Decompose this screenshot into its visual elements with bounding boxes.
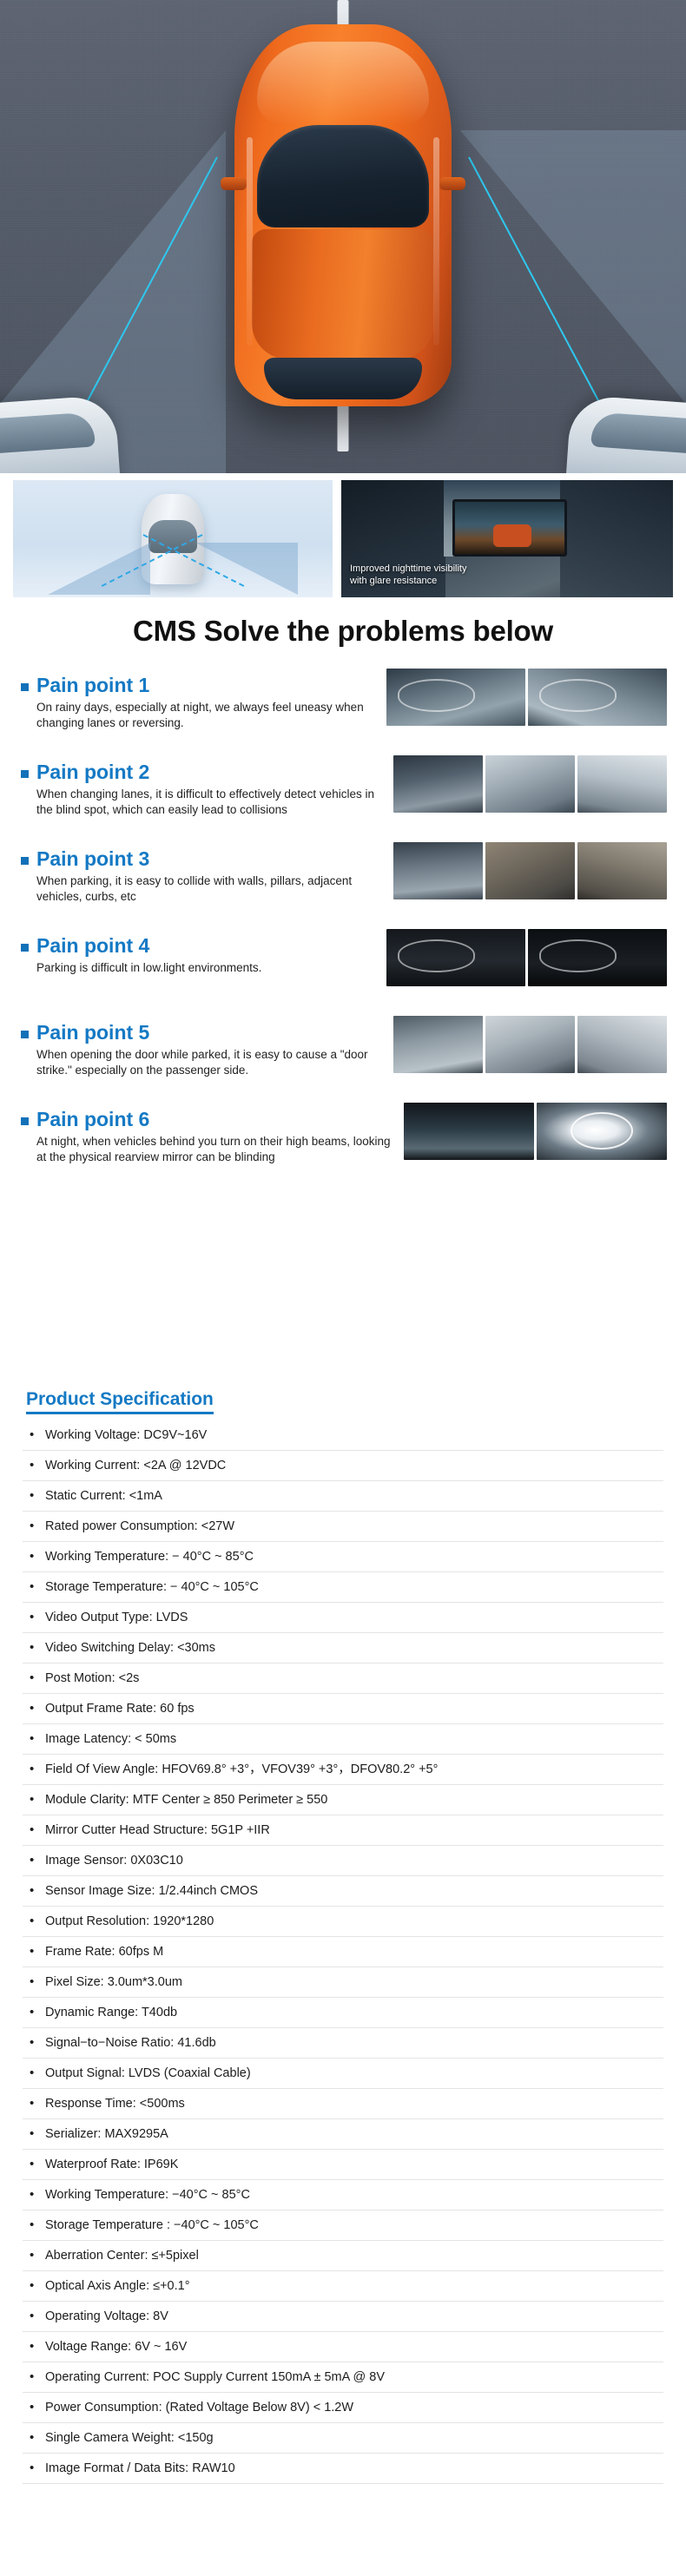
pain-point-thumbnails — [404, 1103, 667, 1160]
headlight-glare-overlay — [571, 1112, 633, 1150]
pain-point-title: Pain point 2 — [36, 761, 149, 784]
specification-list: Working Voltage: DC9V~16VWorking Current… — [23, 1426, 663, 2484]
thumbnail-image — [485, 1016, 575, 1073]
pain-point-description: When opening the door while parked, it i… — [36, 1047, 392, 1077]
specification-item: Output Signal: LVDS (Coaxial Cable) — [23, 2065, 663, 2089]
pain-point-row: Pain point 3 When parking, it is easy to… — [0, 842, 686, 915]
secondary-image-row: Improved nighttime visibilitywith glare … — [13, 480, 673, 597]
pain-point-heading: Pain point 5 — [21, 1021, 393, 1044]
pain-point-description: When parking, it is easy to collide with… — [36, 873, 392, 904]
specification-item: Working Voltage: DC9V~16V — [23, 1426, 663, 1451]
car-windshield — [257, 125, 429, 227]
cabin-pillar-right — [560, 480, 673, 597]
car-hood — [257, 42, 429, 125]
specification-item: Video Output Type: LVDS — [23, 1609, 663, 1633]
pain-point-thumbnails — [386, 929, 667, 986]
pain-point-description: Parking is difficult in low.light enviro… — [36, 960, 386, 976]
pain-point-text-block: Pain point 4 Parking is difficult in low… — [21, 929, 386, 976]
section-title: Product Specification — [26, 1389, 214, 1414]
pain-point-row: Pain point 1 On rainy days, especially a… — [0, 669, 686, 741]
square-bullet-icon — [21, 1117, 29, 1125]
pain-point-heading: Pain point 4 — [21, 934, 386, 958]
thumbnail-image — [577, 1016, 667, 1073]
square-bullet-icon — [21, 683, 29, 691]
pain-point-row: Pain point 5 When opening the door while… — [0, 1016, 686, 1089]
specification-item: Output Resolution: 1920*1280 — [23, 1913, 663, 1937]
specification-item: Storage Temperature : −40°C ~ 105°C — [23, 2217, 663, 2241]
specification-item: Field Of View Angle: HFOV69.8° +3°，VFOV3… — [23, 1761, 663, 1785]
specification-item: Image Latency: < 50ms — [23, 1730, 663, 1755]
thumbnail-image — [528, 669, 667, 726]
square-bullet-icon — [21, 1031, 29, 1038]
fov-diagram-image — [13, 480, 333, 597]
mirror-outline-overlay — [539, 939, 617, 972]
specification-item: Working Temperature: −40°C ~ 85°C — [23, 2186, 663, 2210]
specification-item: Signal−to−Noise Ratio: 41.6db — [23, 2034, 663, 2059]
specification-item: Storage Temperature: − 40°C ~ 105°C — [23, 1578, 663, 1603]
parked-car-glass — [590, 412, 686, 455]
monitor-feed-car — [493, 524, 531, 547]
pain-point-thumbnails — [393, 755, 667, 813]
pain-point-text-block: Pain point 5 When opening the door while… — [21, 1016, 393, 1077]
specification-item: Frame Rate: 60fps M — [23, 1943, 663, 1967]
thumbnail-image — [393, 755, 483, 813]
car-side-mirror-right — [439, 177, 465, 190]
specification-item: Post Motion: <2s — [23, 1670, 663, 1694]
pain-point-title: Pain point 3 — [36, 847, 149, 871]
pain-point-description: On rainy days, especially at night, we a… — [36, 700, 386, 730]
night-cabin-monitor-image: Improved nighttime visibilitywith glare … — [341, 480, 673, 597]
pain-point-text-block: Pain point 1 On rainy days, especially a… — [21, 669, 386, 730]
car-highlight-left — [247, 137, 253, 346]
thumbnail-image — [485, 842, 575, 899]
pain-point-heading: Pain point 6 — [21, 1108, 403, 1131]
specification-item: Dynamic Range: T40db — [23, 2004, 663, 2028]
specification-item: Video Switching Delay: <30ms — [23, 1639, 663, 1664]
thumbnail-image — [404, 1103, 534, 1160]
specification-item: Image Format / Data Bits: RAW10 — [23, 2460, 663, 2484]
thumbnail-image — [537, 1103, 667, 1160]
pain-point-text-block: Pain point 3 When parking, it is easy to… — [21, 842, 393, 904]
pain-point-title: Pain point 6 — [36, 1108, 149, 1131]
specification-item: Response Time: <500ms — [23, 2095, 663, 2119]
car-side-mirror-left — [221, 177, 247, 190]
specification-item: Serializer: MAX9295A — [23, 2125, 663, 2150]
square-bullet-icon — [21, 857, 29, 865]
specification-item: Operating Voltage: 8V — [23, 2308, 663, 2332]
thumbnail-image — [485, 755, 575, 813]
pain-point-thumbnails — [393, 842, 667, 899]
specification-item: Static Current: <1mA — [23, 1487, 663, 1512]
pain-point-thumbnails — [386, 669, 667, 726]
car-rear-window — [264, 358, 422, 399]
pain-point-description: When changing lanes, it is difficult to … — [36, 787, 392, 817]
pain-points-list: Pain point 1 On rainy days, especially a… — [0, 669, 686, 1189]
mirror-outline-overlay — [398, 939, 476, 972]
specification-item: Image Sensor: 0X03C10 — [23, 1852, 663, 1876]
pain-point-title: Pain point 1 — [36, 674, 149, 697]
specification-item: Voltage Range: 6V ~ 16V — [23, 2338, 663, 2362]
parked-car-glass — [0, 412, 96, 455]
specification-item: Sensor Image Size: 1/2.44inch CMOS — [23, 1882, 663, 1907]
thumbnail-image — [393, 1016, 483, 1073]
page-title: CMS Solve the problems below — [0, 615, 686, 648]
cms-monitor — [452, 499, 567, 557]
product-specification-section: Product Specification Working Voltage: D… — [0, 1389, 686, 2490]
thumbnail-image — [386, 669, 525, 726]
specification-item: Working Current: <2A @ 12VDC — [23, 1457, 663, 1481]
mirror-outline-overlay — [398, 679, 476, 712]
thumbnail-image — [393, 842, 483, 899]
image-caption: Improved nighttime visibilitywith glare … — [350, 563, 467, 587]
product-landing-page: Improved nighttime visibilitywith glare … — [0, 0, 686, 2576]
specification-item: Mirror Cutter Head Structure: 5G1P +IIR — [23, 1822, 663, 1846]
hero-image-car-night-road — [0, 0, 686, 473]
square-bullet-icon — [21, 770, 29, 778]
specification-item: Single Camera Weight: <150g — [23, 2429, 663, 2454]
specification-item: Rated power Consumption: <27W — [23, 1518, 663, 1542]
pain-point-text-block: Pain point 6 At night, when vehicles beh… — [21, 1103, 403, 1164]
lane-marking — [338, 399, 349, 451]
specification-item: Pixel Size: 3.0um*3.0um — [23, 1973, 663, 1998]
square-bullet-icon — [21, 944, 29, 952]
car-highlight-right — [433, 137, 439, 346]
thumbnail-image — [577, 842, 667, 899]
thumbnail-image — [528, 929, 667, 986]
pain-point-description: At night, when vehicles behind you turn … — [36, 1134, 392, 1164]
specification-item: Waterproof Rate: IP69K — [23, 2156, 663, 2180]
car-roof — [252, 229, 434, 359]
specification-item: Power Consumption: (Rated Voltage Below … — [23, 2399, 663, 2423]
pain-point-title: Pain point 4 — [36, 934, 149, 958]
pain-point-heading: Pain point 1 — [21, 674, 386, 697]
thumbnail-image — [577, 755, 667, 813]
specification-item: Operating Current: POC Supply Current 15… — [23, 2368, 663, 2393]
specification-item: Working Temperature: − 40°C ~ 85°C — [23, 1548, 663, 1572]
specification-item: Output Frame Rate: 60 fps — [23, 1700, 663, 1724]
hero-orange-car — [234, 24, 452, 406]
pain-point-heading: Pain point 2 — [21, 761, 393, 784]
pain-point-row: Pain point 4 Parking is difficult in low… — [0, 929, 686, 1002]
specification-item: Aberration Center: ≤+5pixel — [23, 2247, 663, 2271]
pain-point-text-block: Pain point 2 When changing lanes, it is … — [21, 755, 393, 817]
pain-point-heading: Pain point 3 — [21, 847, 393, 871]
mirror-outline-overlay — [539, 679, 617, 712]
pain-point-row: Pain point 2 When changing lanes, it is … — [0, 755, 686, 828]
specification-item: Optical Axis Angle: ≤+0.1° — [23, 2277, 663, 2302]
specification-item: Module Clarity: MTF Center ≥ 850 Perimet… — [23, 1791, 663, 1815]
pain-point-thumbnails — [393, 1016, 667, 1073]
pain-point-row: Pain point 6 At night, when vehicles beh… — [0, 1103, 686, 1176]
thumbnail-image — [386, 929, 525, 986]
pain-point-title: Pain point 5 — [36, 1021, 149, 1044]
